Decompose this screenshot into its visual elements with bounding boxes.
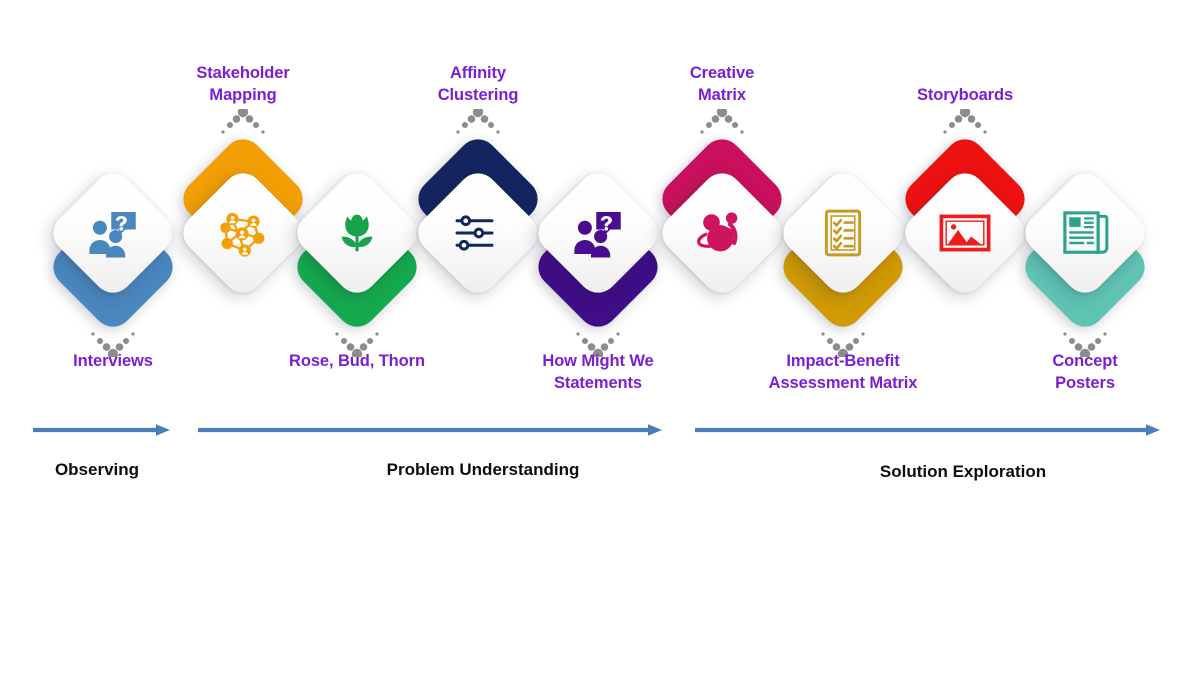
node-label-storyboards: Storyboards <box>917 85 1013 107</box>
node-label-affinity-clustering: Affinity Clustering <box>438 63 519 107</box>
phase-arrow-solution-exploration <box>695 423 1160 437</box>
node-label-interviews: Interviews <box>73 351 153 373</box>
phase-label-observing: Observing <box>55 460 139 480</box>
checklist-icon <box>815 205 871 261</box>
network-nodes-icon <box>215 205 271 261</box>
node-label-stakeholder-mapping: Stakeholder Mapping <box>196 63 289 107</box>
people-question-icon <box>85 205 141 261</box>
newspaper-icon <box>1057 205 1113 261</box>
connector-dots-stakeholder-mapping <box>219 109 267 135</box>
connector-dots-affinity-clustering <box>454 109 502 135</box>
node-label-impact-benefit-assessment-matrix: Impact-Benefit Assessment Matrix <box>769 351 918 395</box>
node-label-concept-posters: Concept Posters <box>1052 351 1117 395</box>
people-question-purple-icon <box>570 205 626 261</box>
planet-idea-icon <box>694 205 750 261</box>
node-label-creative-matrix: Creative Matrix <box>690 63 754 107</box>
node-label-rose-bud-thorn: Rose, Bud, Thorn <box>289 351 425 373</box>
node-label-how-might-we-statements: How Might We Statements <box>542 351 653 395</box>
diagram-canvas: InterviewsStakeholder MappingRose, Bud, … <box>0 0 1200 675</box>
picture-image-icon <box>937 205 993 261</box>
sliders-icon <box>450 205 506 261</box>
phase-arrow-problem-understanding <box>198 423 662 437</box>
phase-label-problem-understanding: Problem Understanding <box>387 460 580 480</box>
phase-label-solution-exploration: Solution Exploration <box>880 462 1046 482</box>
connector-dots-storyboards <box>941 109 989 135</box>
connector-dots-creative-matrix <box>698 109 746 135</box>
tulip-flower-icon <box>329 205 385 261</box>
phase-arrow-observing <box>33 423 170 437</box>
